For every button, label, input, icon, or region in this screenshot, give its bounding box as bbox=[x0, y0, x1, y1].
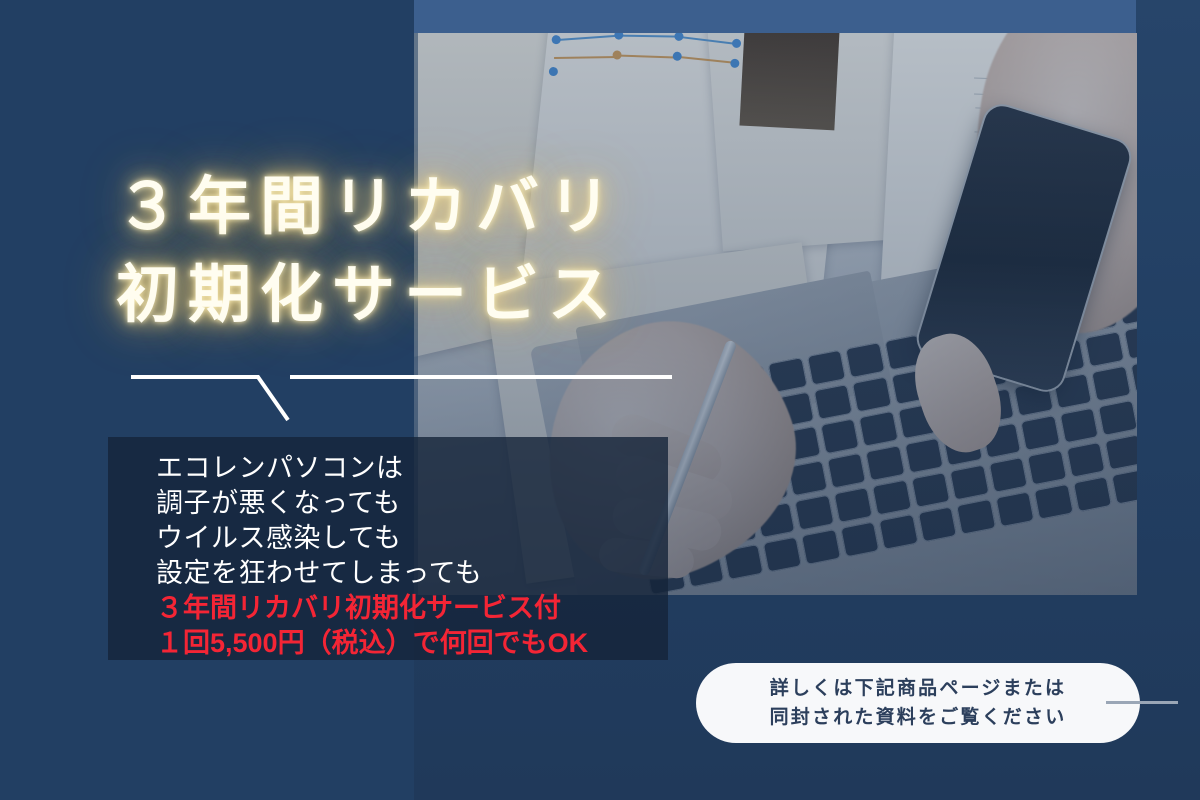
description-panel: エコレンパソコンは 調子が悪くなっても ウイルス感染しても 設定を狂わせてしまっ… bbox=[108, 437, 668, 660]
pill-tail-line bbox=[1106, 701, 1178, 704]
headline-line-2: 初期化サービス bbox=[116, 251, 876, 339]
description-line: 設定を狂わせてしまっても bbox=[156, 556, 646, 591]
headline-line-1: ３年間リカバリ bbox=[116, 172, 620, 242]
left-navy-panel bbox=[0, 0, 414, 800]
description-line: ウイルス感染しても bbox=[156, 521, 646, 556]
description-line-highlight: １回5,500円（税込）で何回でもOK bbox=[156, 626, 646, 661]
description-line: 調子が悪くなっても bbox=[156, 486, 646, 521]
promo-banner: ３年間リカバリ 初期化サービス エコレンパソコンは 調子が悪くなっても ウイルス… bbox=[0, 0, 1200, 800]
callout-pill[interactable]: 詳しくは下記商品ページまたは 同封された資料をご覧ください bbox=[696, 663, 1140, 743]
page-title: ３年間リカバリ 初期化サービス bbox=[116, 163, 876, 339]
description-line-highlight: ３年間リカバリ初期化サービス付 bbox=[156, 591, 646, 626]
callout-line-2: 同封された資料をご覧ください bbox=[770, 703, 1067, 732]
callout-line-1: 詳しくは下記商品ページまたは bbox=[770, 674, 1066, 703]
description-line: エコレンパソコンは bbox=[156, 451, 646, 486]
